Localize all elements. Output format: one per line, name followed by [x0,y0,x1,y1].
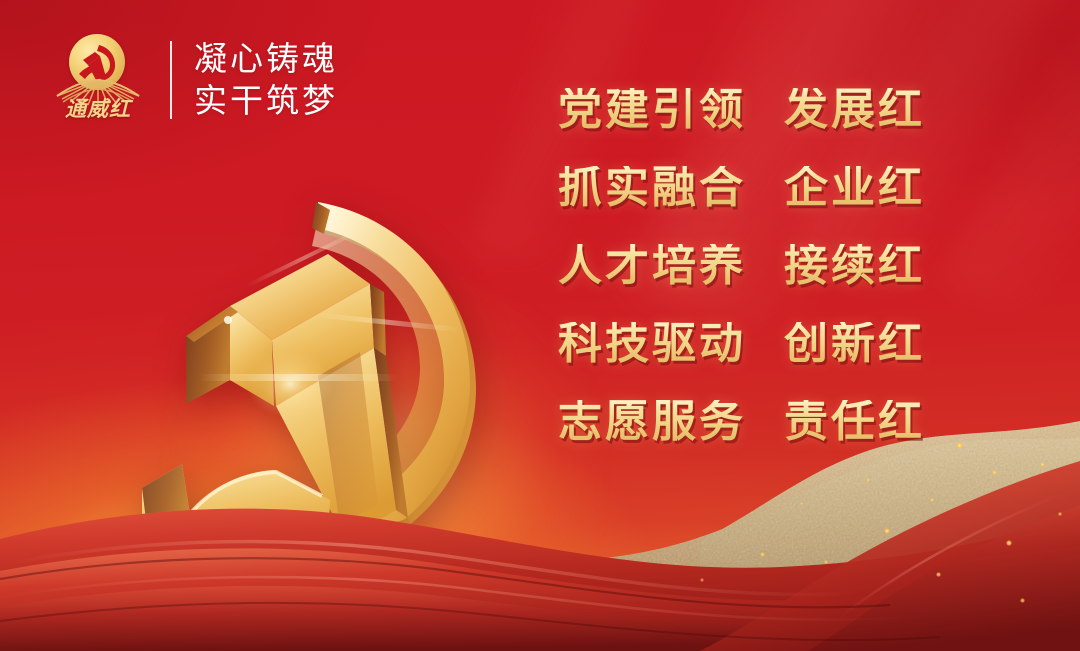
slogan-left: 党建引领 [558,88,746,132]
header-slogan-line-2: 实干筑梦 [194,80,338,122]
slogan-right: 责任红 [784,400,925,444]
header-brand-block: 通威红 凝心铸魂 实干筑梦 [52,32,338,128]
slogan-left: 抓实融合 [558,166,746,210]
slogan-left: 科技驱动 [558,322,746,366]
slogan-row: 党建引领 发展红 [558,88,925,166]
logo-mark[interactable]: 通威红 [52,32,144,128]
slogan-list: 党建引领 发展红 抓实融合 企业红 人才培养 接续红 科技驱动 创新红 志愿服务… [558,88,925,478]
header-slogan-line-1: 凝心铸魂 [194,38,338,80]
slogan-left: 人才培养 [558,244,746,288]
header-slogan: 凝心铸魂 实干筑梦 [194,38,338,122]
slogan-right: 企业红 [784,166,925,210]
slogan-right: 接续红 [784,244,925,288]
slogan-row: 抓实融合 企业红 [558,166,925,244]
slogan-row: 科技驱动 创新红 [558,322,925,400]
logo-wordmark: 通威红 [52,98,144,119]
party-emblem-3d-sculpture [78,188,498,588]
slogan-right: 发展红 [784,88,925,132]
slogan-row: 志愿服务 责任红 [558,400,925,478]
slogan-right: 创新红 [784,322,925,366]
slogan-row: 人才培养 接续红 [558,244,925,322]
header-divider [170,41,172,119]
poster-canvas: 通威红 凝心铸魂 实干筑梦 党建引领 发展红 抓实融合 企业红 人才培养 接续红… [0,0,1080,651]
slogan-left: 志愿服务 [558,400,746,444]
